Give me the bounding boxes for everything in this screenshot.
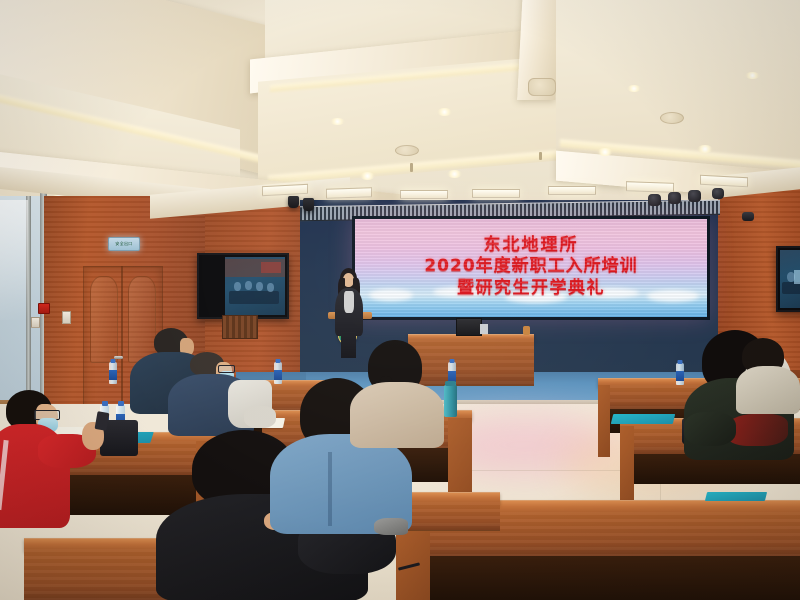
attendee-red-jacket xyxy=(0,390,122,530)
stage-spotlight-5 xyxy=(688,190,701,202)
downlight-7 xyxy=(627,85,641,92)
led-screen-frame: 东北地理所 2020年度新职工入所培训 暨研究生开学典礼 xyxy=(352,216,710,320)
right-tv-video-feed xyxy=(780,250,800,308)
bottle-label-6 xyxy=(676,371,684,381)
desk-row-a-leg xyxy=(598,385,610,457)
exit-sign: 安全出口 xyxy=(108,237,140,251)
attendee-hoodie-arm xyxy=(684,412,736,446)
water-bottle-3 xyxy=(109,362,117,384)
left-tv-wall-mount xyxy=(222,315,258,339)
downlight-5 xyxy=(597,148,613,156)
led-text-line-3: 暨研究生开学典礼 xyxy=(355,278,707,300)
ceiling-vent-2 xyxy=(660,112,684,124)
downlight-1 xyxy=(330,118,345,125)
attendee-beige-top-torso xyxy=(350,382,444,448)
stage-spotlight-4 xyxy=(668,192,681,204)
bottle-cap-6 xyxy=(678,360,683,364)
presenter-laptop-base xyxy=(480,324,488,334)
led-text-line-1: 东北地理所 xyxy=(355,235,707,257)
right-tv-feed-bright xyxy=(794,270,800,284)
bottle-label-3 xyxy=(109,370,117,380)
left-tv-video-feed xyxy=(225,257,285,315)
tv-feed-person-3 xyxy=(256,282,263,291)
attendee-red-jacket-phone xyxy=(95,411,110,431)
attendee-navy-vest-glasses xyxy=(218,365,235,373)
bottle-cap-3 xyxy=(111,359,116,363)
presenter-laptop xyxy=(456,318,482,336)
ceiling-vent-1 xyxy=(395,145,419,156)
ceiling-light-strip-6 xyxy=(626,181,674,193)
bottle-cap-4 xyxy=(276,359,281,363)
downlight-8 xyxy=(745,72,760,79)
stage-spotlight-1 xyxy=(288,196,299,208)
downlight-4 xyxy=(447,170,462,178)
ceiling-light-strip-4 xyxy=(472,189,520,198)
presenter-table-item xyxy=(523,326,530,335)
ceiling-speaker-box xyxy=(528,78,556,96)
ceiling-speaker-right xyxy=(742,212,754,221)
led-screen-title-text: 东北地理所 2020年度新职工入所培训 暨研究生开学典礼 xyxy=(355,235,707,300)
window-glare xyxy=(0,200,28,320)
wall-switch-2[interactable] xyxy=(62,311,71,324)
ceiling-light-strip-2 xyxy=(326,187,372,199)
sprinkler-1 xyxy=(410,163,413,172)
tv-feed-screen xyxy=(261,262,281,273)
downlight-6 xyxy=(697,145,713,153)
right-wall-tv xyxy=(776,246,800,312)
stage-spotlight-3 xyxy=(648,194,661,206)
left-wall-tv xyxy=(197,253,289,319)
attendee-blue-shirt-fold xyxy=(328,452,332,526)
attendee-blue-shirt-shoe xyxy=(374,518,408,535)
downlight-3 xyxy=(360,172,375,180)
water-bottle-6 xyxy=(676,363,684,385)
desk-row-d-right-recess xyxy=(430,556,800,600)
ceiling-light-strip-5 xyxy=(548,186,596,195)
sprinkler-2 xyxy=(539,152,542,160)
fire-alarm-box[interactable] xyxy=(38,303,50,314)
attendee-beige-top xyxy=(346,340,454,448)
tv-feed-person-4 xyxy=(267,283,274,292)
wall-switch-1[interactable] xyxy=(31,317,40,328)
conference-hall-photo: 安全出口 xyxy=(0,0,800,600)
desk-mat-4 xyxy=(705,492,767,501)
attendee-navy-vest xyxy=(168,352,276,436)
attendee-right-rear xyxy=(736,338,800,412)
exit-sign-label: 安全出口 xyxy=(115,241,132,247)
ceiling-light-strip-3 xyxy=(400,190,448,199)
led-screen-surface: 东北地理所 2020年度新职工入所培训 暨研究生开学典礼 xyxy=(355,219,707,317)
stage-spotlight-6 xyxy=(712,188,724,199)
stage-spotlight-2 xyxy=(303,198,314,211)
tv-feed-person-1 xyxy=(234,282,241,291)
tv-feed-person-2 xyxy=(245,281,252,290)
door-panel-left xyxy=(90,276,118,363)
attendee-right-rear-torso xyxy=(736,366,800,414)
downlight-2 xyxy=(437,108,452,116)
tv-feed-table xyxy=(229,291,279,304)
desk-mat-3 xyxy=(611,414,675,424)
led-text-line-2: 2020年度新职工入所培训 xyxy=(355,256,707,278)
speaker-inner-top xyxy=(344,291,354,313)
